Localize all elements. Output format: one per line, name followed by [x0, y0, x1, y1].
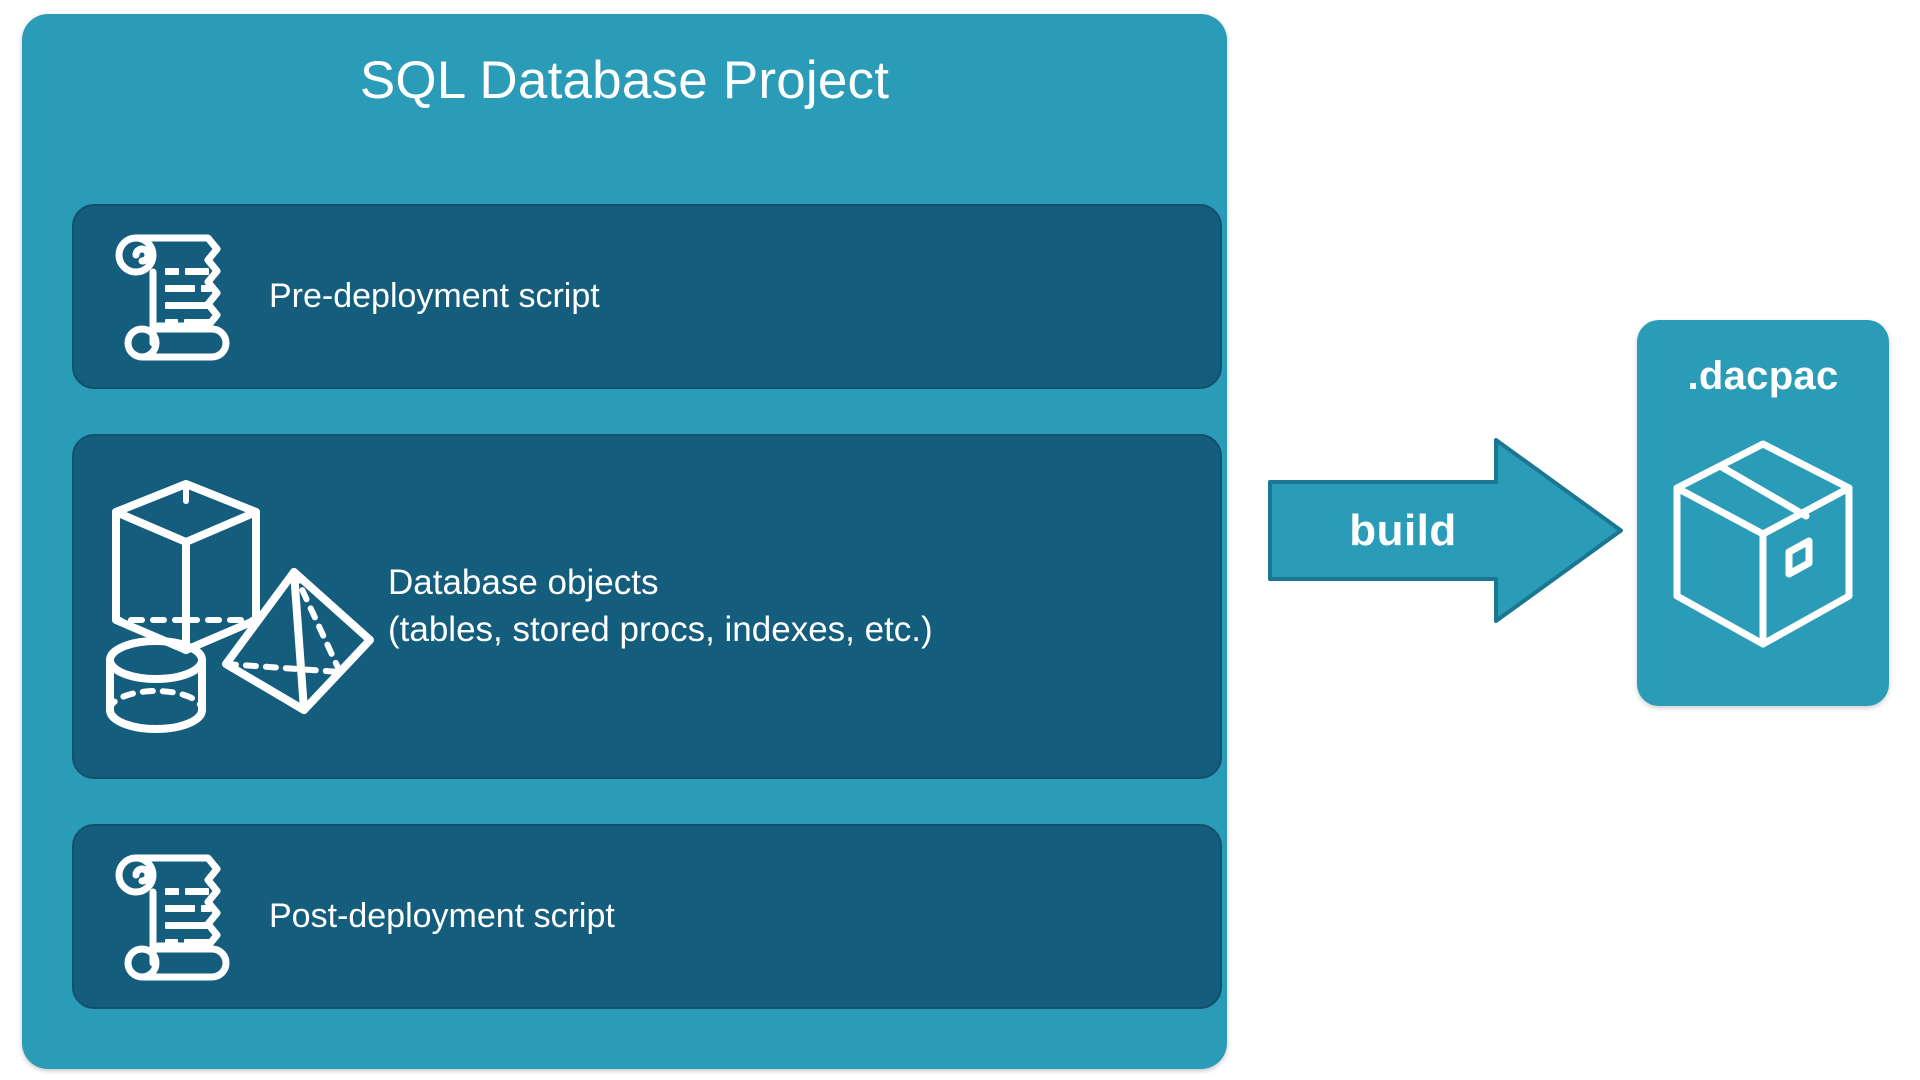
build-arrow: build	[1268, 438, 1623, 623]
cylinder-icon	[110, 641, 202, 729]
dacpac-label: .dacpac	[1637, 354, 1889, 399]
scroll-icon-wrapper-2	[84, 847, 269, 987]
card-pre-deployment-script[interactable]: Pre-deployment script	[72, 204, 1222, 389]
3d-shapes-icon-wrapper	[88, 472, 388, 742]
scroll-icon	[112, 847, 242, 987]
diagram-canvas: SQL Database Project	[0, 0, 1920, 1080]
page-title: SQL Database Project	[22, 52, 1227, 110]
pyramid-icon	[226, 572, 370, 710]
card-post-deployment-script[interactable]: Post-deployment script	[72, 824, 1222, 1009]
arrow-label-build: build	[1268, 438, 1538, 623]
card-label-pre-deployment: Pre-deployment script	[269, 274, 600, 319]
scroll-icon	[112, 227, 242, 367]
package-box-icon	[1663, 430, 1863, 670]
card-label-post-deployment: Post-deployment script	[269, 894, 615, 939]
dacpac-output-box[interactable]: .dacpac	[1637, 320, 1889, 706]
scroll-icon-wrapper	[84, 227, 269, 367]
card-database-objects[interactable]: Database objects (tables, stored procs, …	[72, 434, 1222, 779]
sql-database-project-panel: SQL Database Project	[22, 14, 1227, 1069]
3d-shapes-icon	[98, 472, 378, 742]
card-label-database-objects: Database objects (tables, stored procs, …	[388, 560, 933, 652]
